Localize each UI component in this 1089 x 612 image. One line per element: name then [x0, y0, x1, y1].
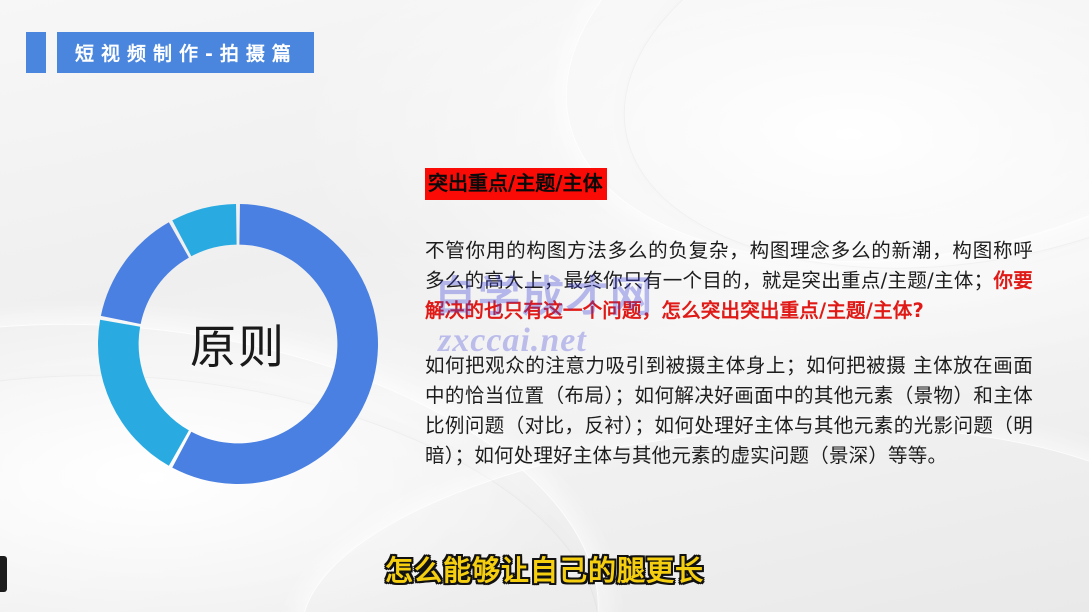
slide-title-block: 短视频制作-拍摄篇	[26, 32, 314, 73]
content-column: 突出重点/主题/主体 不管你用的构图方法多么的负复杂，构图理念多么的新潮，构图称…	[425, 168, 1033, 471]
donut-chart: 原则	[97, 203, 379, 485]
title-banner: 短视频制作-拍摄篇	[57, 32, 314, 73]
video-subtitle: 怎么能够让自己的腿更长	[0, 549, 1089, 589]
slide-canvas: 短视频制作-拍摄篇 原则 突出重点/主题/主体 不管你用的构图方法多么的负复杂，…	[0, 0, 1089, 612]
title-accent-marker	[26, 32, 46, 73]
donut-center-label: 原则	[97, 203, 379, 485]
page-title: 短视频制作-拍摄篇	[75, 39, 298, 66]
player-edge-control[interactable]	[0, 556, 7, 592]
paragraph-two: 如何把观众的注意力吸引到被摄主体身上；如何把被摄 主体放在画面中的恰当位置（布局…	[425, 351, 1033, 471]
paragraph-one: 不管你用的构图方法多么的负复杂，构图理念多么的新潮，构图称呼多么的高大上，最终你…	[425, 236, 1033, 326]
paragraph-one-black: 不管你用的构图方法多么的负复杂，构图理念多么的新潮，构图称呼多么的高大上，最终你…	[425, 239, 1033, 292]
section-heading: 突出重点/主题/主体	[425, 168, 607, 200]
